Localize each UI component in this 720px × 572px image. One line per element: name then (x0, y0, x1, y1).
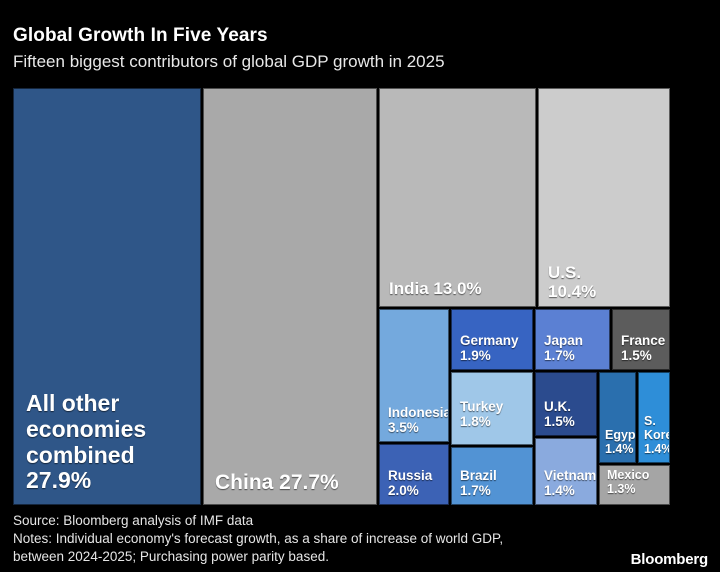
treemap-tile-turkey[interactable]: Turkey 1.8% (451, 372, 533, 445)
source-note: Source: Bloomberg analysis of IMF data (13, 512, 713, 530)
treemap-tile-label: Mexico 1.3% (607, 468, 665, 496)
treemap-tile-label: U.K. 1.5% (544, 399, 592, 429)
chart-page: Global Growth In Five Years Fifteen bigg… (0, 0, 720, 572)
treemap-chart: All other economies combined 27.9% China… (13, 88, 670, 505)
treemap-tile-label: India 13.0% (389, 279, 531, 298)
page-title: Global Growth In Five Years (13, 24, 703, 48)
treemap-tile-label: U.S. 10.4% (548, 263, 665, 301)
treemap-tile-japan[interactable]: Japan 1.7% (535, 309, 610, 370)
treemap-tile-label: France 1.5% (621, 333, 665, 363)
treemap-tile-label: Russia 2.0% (388, 468, 444, 498)
bloomberg-logo: Bloomberg (631, 551, 708, 568)
treemap-tile-label: Egypt 1.4% (605, 428, 631, 456)
treemap-tile-india[interactable]: India 13.0% (379, 88, 536, 307)
notes-line-1: Notes: Individual economy's forecast gro… (13, 530, 713, 548)
treemap-tile-china[interactable]: China 27.7% (203, 88, 377, 505)
treemap-tile-egypt[interactable]: Egypt 1.4% (599, 372, 636, 463)
treemap-tile-vietnam[interactable]: Vietnam 1.4% (535, 438, 597, 505)
treemap-tile-label: All other economies combined 27.9% (26, 391, 196, 494)
treemap-tile-brazil[interactable]: Brazil 1.7% (451, 447, 533, 505)
chart-footer: Source: Bloomberg analysis of IMF data N… (13, 512, 713, 566)
notes-line-2: between 2024-2025; Purchasing power pari… (13, 548, 713, 566)
treemap-tile-label: Japan 1.7% (544, 333, 605, 363)
treemap-tile-germany[interactable]: Germany 1.9% (451, 309, 533, 370)
treemap-tile-label: China 27.7% (215, 471, 372, 495)
treemap-tile-all-other-economies[interactable]: All other economies combined 27.9% (13, 88, 201, 505)
treemap-tile-s-korea[interactable]: S. Korea 1.4% (638, 372, 670, 463)
treemap-tile-uk[interactable]: U.K. 1.5% (535, 372, 597, 436)
treemap-tile-label: Germany 1.9% (460, 333, 528, 363)
treemap-tile-indonesia[interactable]: Indonesia 3.5% (379, 309, 449, 442)
treemap-tile-russia[interactable]: Russia 2.0% (379, 444, 449, 505)
treemap-tile-mexico[interactable]: Mexico 1.3% (599, 465, 670, 505)
treemap-tile-us[interactable]: U.S. 10.4% (538, 88, 670, 307)
treemap-tile-label: S. Korea 1.4% (644, 414, 665, 456)
treemap-tile-label: Vietnam 1.4% (544, 468, 592, 498)
treemap-tile-label: Brazil 1.7% (460, 468, 528, 498)
chart-subtitle: Fifteen biggest contributors of global G… (13, 51, 703, 73)
treemap-tile-france[interactable]: France 1.5% (612, 309, 670, 370)
treemap-tile-label: Turkey 1.8% (460, 399, 528, 429)
chart-header: Global Growth In Five Years Fifteen bigg… (13, 24, 703, 73)
treemap-tile-label: Indonesia 3.5% (388, 405, 444, 435)
